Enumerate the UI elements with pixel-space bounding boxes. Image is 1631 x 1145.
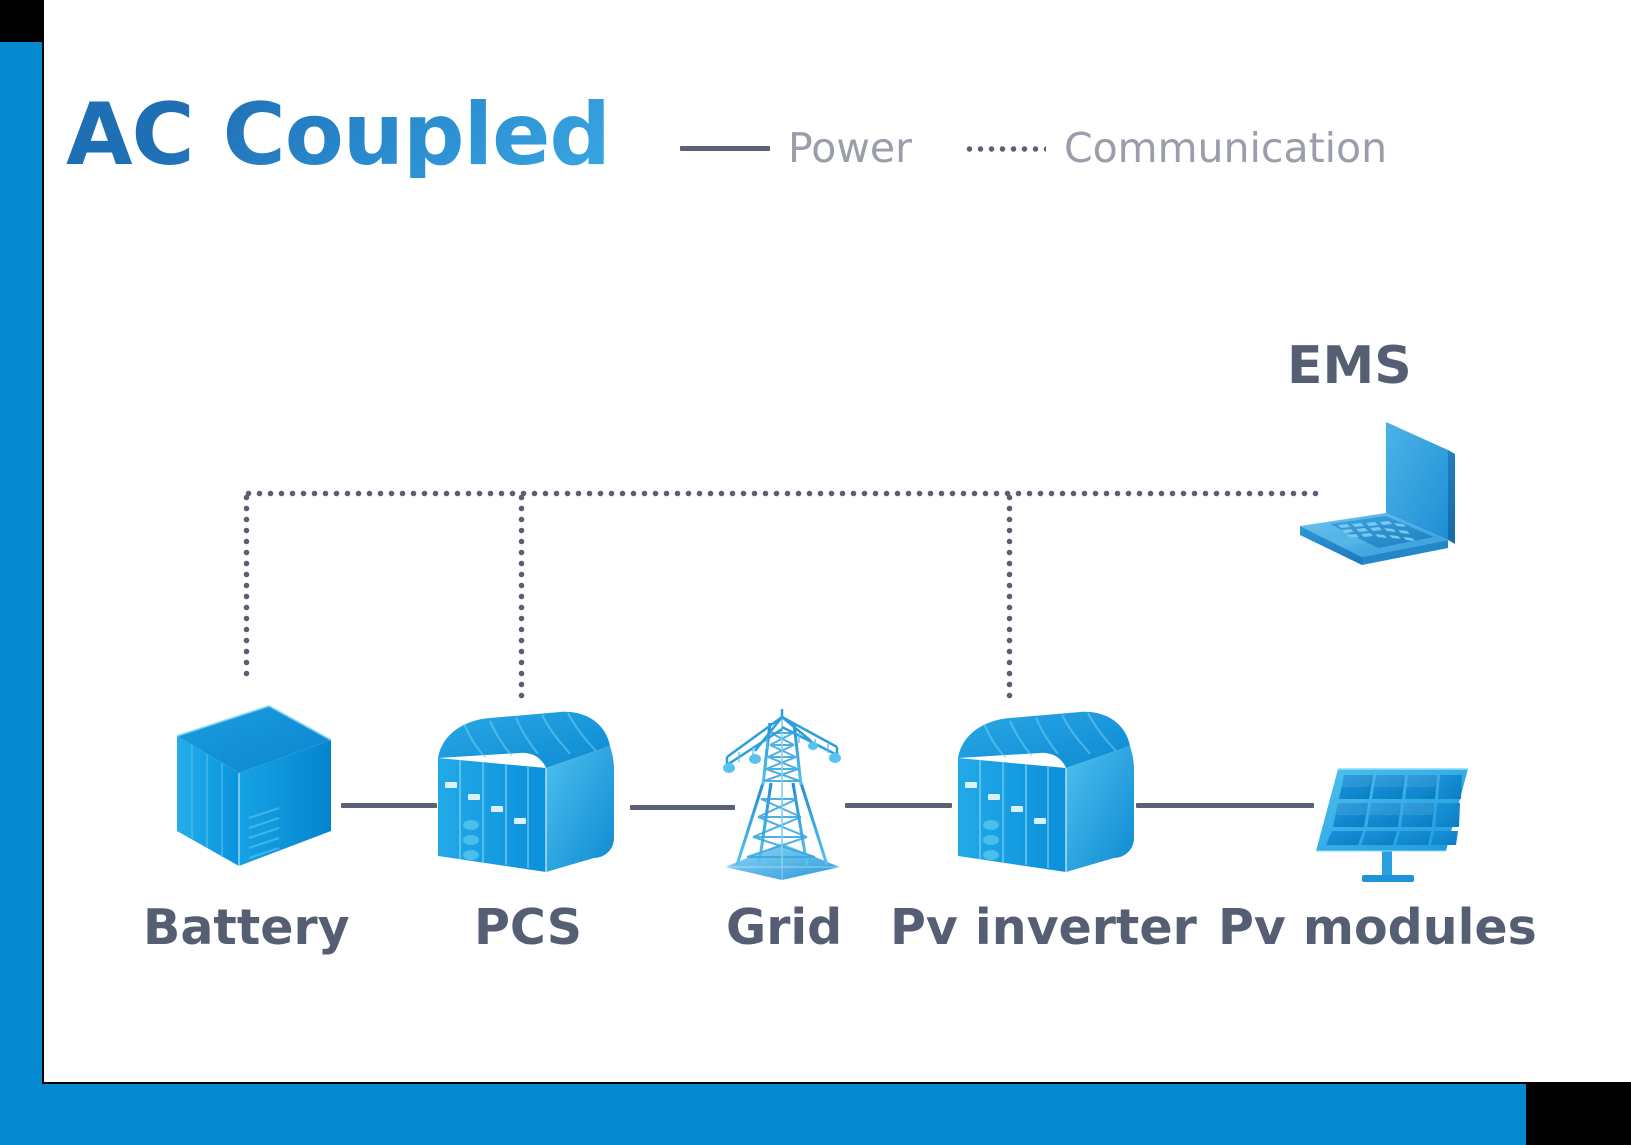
battery-container-icon [137, 698, 347, 883]
legend-label-power: Power [788, 128, 912, 169]
solid-line-icon [680, 146, 770, 151]
legend-item-power: Power [680, 128, 912, 169]
device-label-grid: Grid [726, 903, 842, 952]
legend-label-communication: Communication [1064, 128, 1387, 169]
left-border-bar [0, 0, 42, 1145]
device-label-pv-modules: Pv modules [1218, 903, 1537, 952]
power-line-grid-inverter [845, 803, 952, 808]
communication-line-battery [243, 492, 250, 680]
device-label-pcs: PCS [474, 903, 582, 952]
page-title: AC Coupled [66, 92, 610, 178]
left-border-black-cap [0, 0, 42, 42]
power-line-inverter-pv [1136, 803, 1314, 808]
legend: Power Communication [680, 128, 1387, 169]
communication-line-pcs [518, 492, 525, 699]
communication-line-inverter [1006, 492, 1013, 699]
solar-panel-icon [1310, 755, 1470, 883]
bottom-border-black-cap [1526, 1083, 1631, 1145]
device-label-battery: Battery [143, 903, 350, 952]
dotted-line-icon [964, 146, 1046, 152]
pv-inverter-cabinet-icon [948, 706, 1148, 878]
pcs-cabinet-icon [428, 706, 628, 878]
device-label-inverter: Pv inverter [890, 903, 1197, 952]
bottom-border-bar [0, 1083, 1631, 1145]
diagram-page: AC Coupled Power Communication EMS [0, 0, 1631, 1145]
communication-bus-horizontal [243, 490, 1323, 497]
frame-hairline-horizontal [42, 1082, 1631, 1084]
transmission-tower-icon [715, 705, 850, 880]
legend-item-communication: Communication [964, 128, 1387, 169]
power-line-battery-pcs [341, 803, 437, 808]
ems-label: EMS [1287, 336, 1412, 396]
